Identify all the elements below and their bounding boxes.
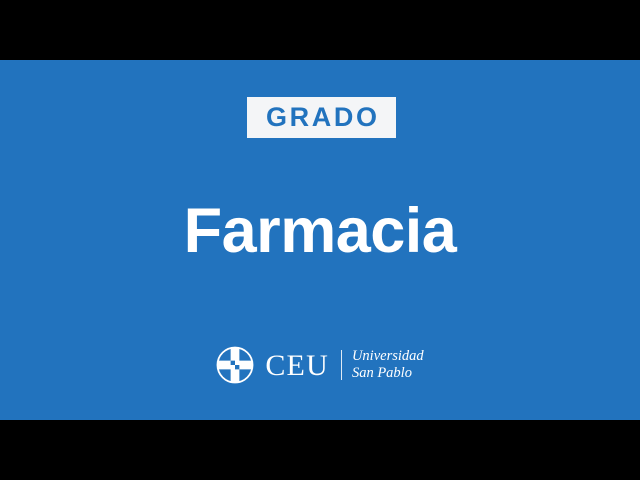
ceu-subname-line-1: Universidad	[352, 348, 424, 364]
slide-canvas: GRADO Farmacia CEU Universidad	[0, 60, 640, 420]
ceu-wordmark: CEU	[265, 351, 329, 381]
ceu-subname: Universidad San Pablo	[352, 348, 424, 382]
ceu-logo-divider	[341, 350, 342, 380]
video-frame: GRADO Farmacia CEU Universidad	[0, 0, 640, 480]
ceu-cross-circle-emblem-icon	[216, 346, 254, 384]
program-title: Farmacia	[0, 200, 640, 263]
ceu-subname-line-2: San Pablo	[352, 365, 412, 381]
degree-type-badge-label: GRADO	[263, 104, 379, 131]
degree-type-badge: GRADO	[247, 97, 396, 138]
ceu-logo: CEU Universidad San Pablo	[0, 342, 640, 388]
letterbox-bar-top	[0, 0, 640, 60]
letterbox-bar-bottom	[0, 420, 640, 480]
